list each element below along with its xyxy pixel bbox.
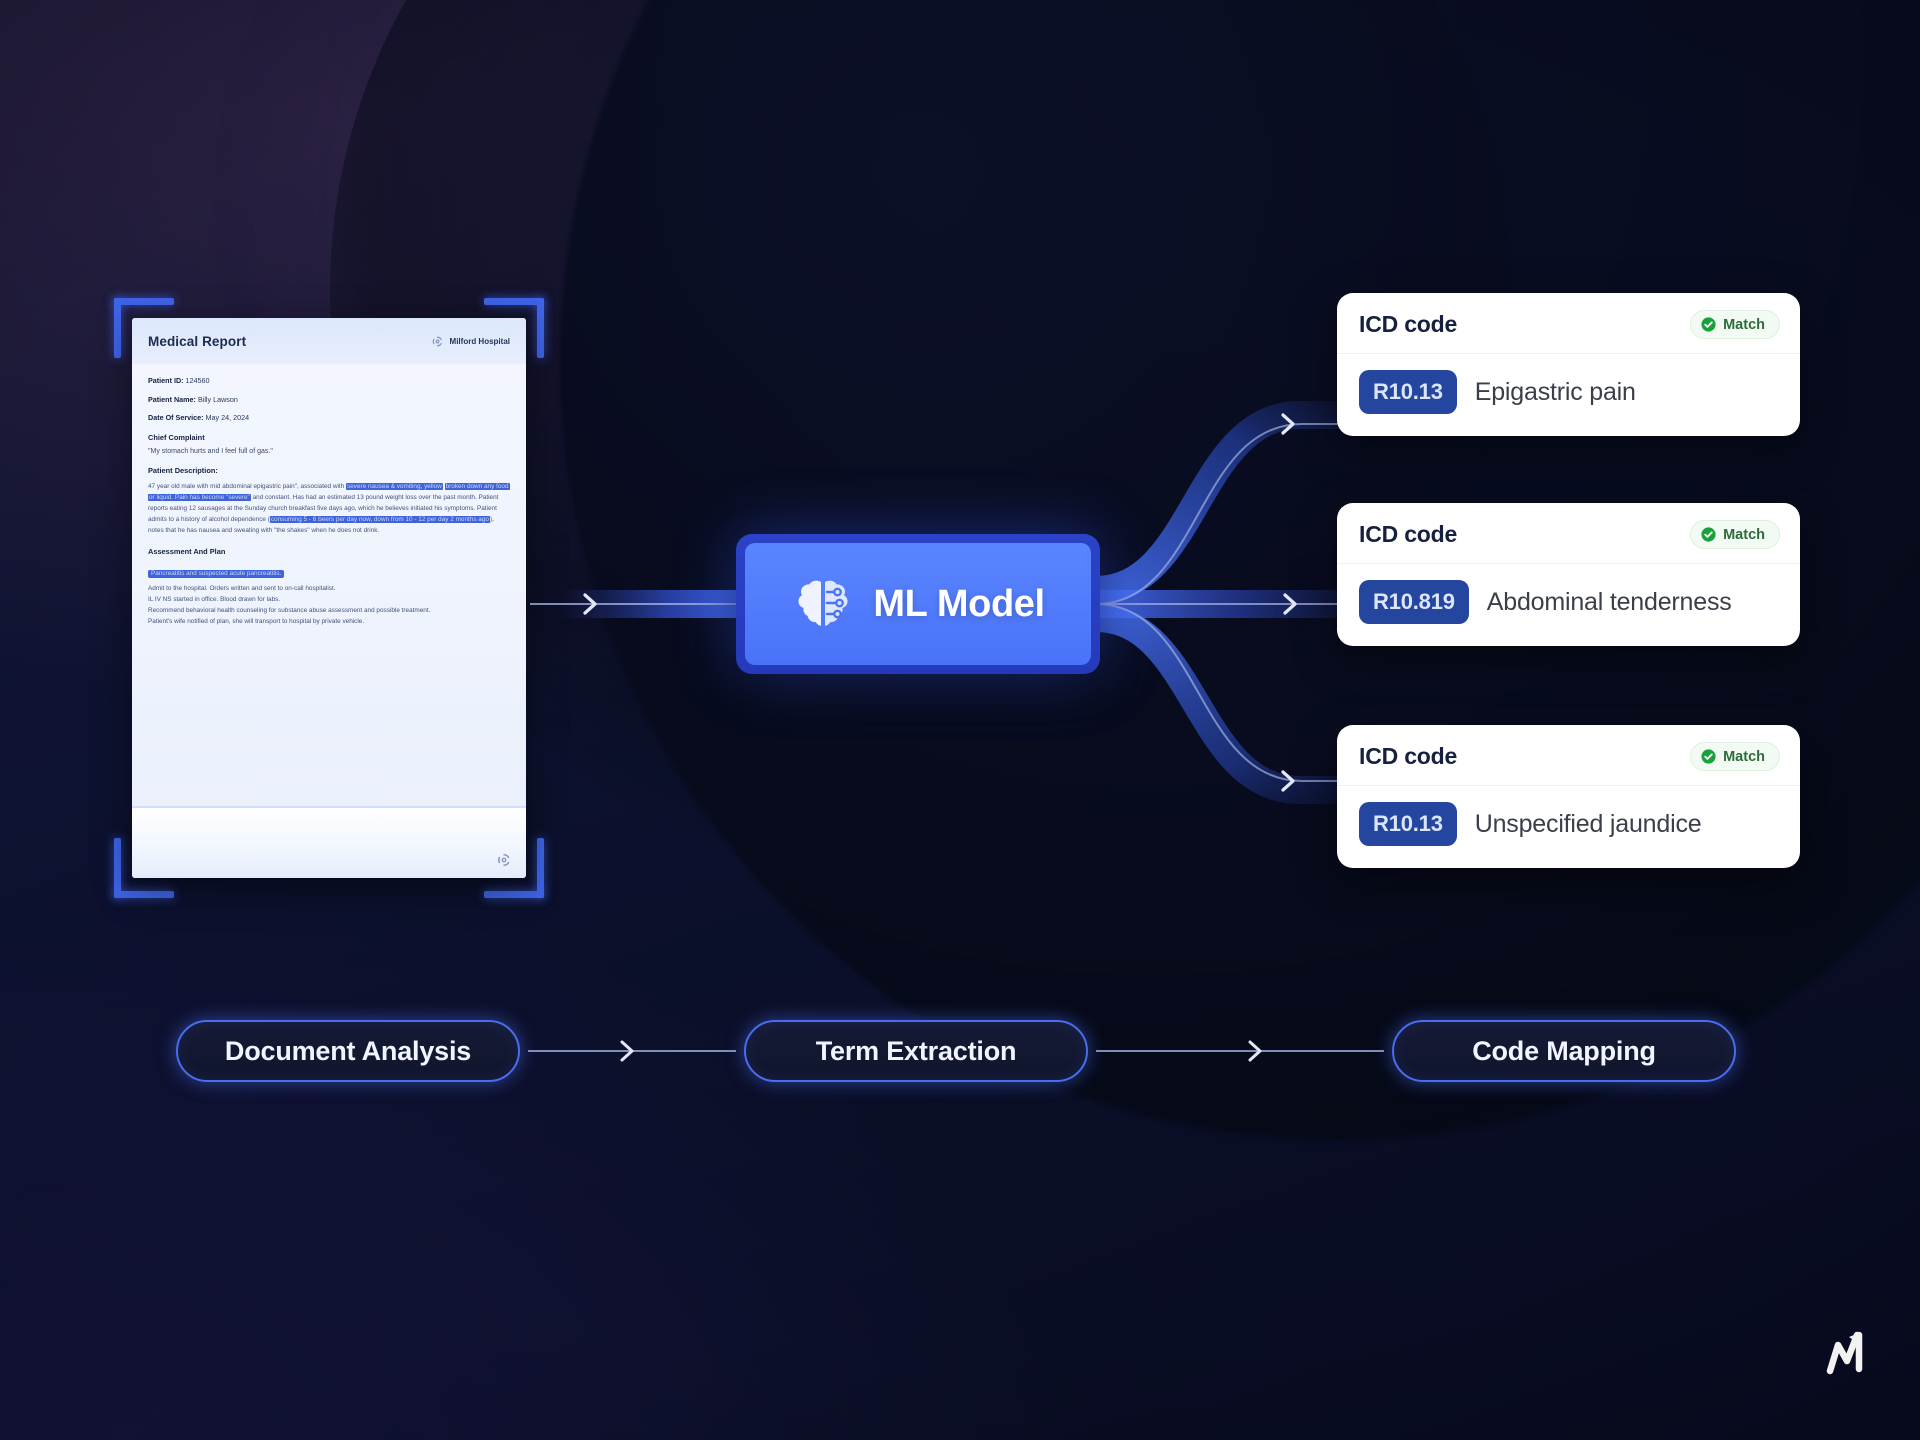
m-arrow-logo xyxy=(1826,1327,1872,1379)
field-date-of-service: Date Of Service: May 24, 2024 xyxy=(148,413,510,422)
field-value: Billy Lawson xyxy=(198,395,238,404)
medical-report-page[interactable]: Medical Report Milford Hospital xyxy=(132,318,526,878)
chief-complaint-heading: Chief Complaint xyxy=(148,433,510,442)
patient-description-text: 47 year old male with mid abdominal epig… xyxy=(148,481,510,536)
step-label: Code Mapping xyxy=(1472,1036,1656,1067)
ml-model-node[interactable]: ML Model xyxy=(736,534,1100,674)
icd-card-title: ICD code xyxy=(1359,743,1457,770)
report-footer-strip xyxy=(132,806,526,878)
icd-card-title: ICD code xyxy=(1359,521,1457,548)
hospital-brand: Milford Hospital xyxy=(431,335,510,348)
icd-code-chip[interactable]: R10.13 xyxy=(1359,802,1457,846)
icd-card-body: R10.819 Abdominal tenderness xyxy=(1337,564,1800,646)
status-badge-label: Match xyxy=(1723,527,1765,543)
assessment-line: Recommend behavioral health counseling f… xyxy=(148,605,510,616)
status-badge: Match xyxy=(1690,310,1780,339)
field-value: May 24, 2024 xyxy=(206,413,250,422)
icd-result-card[interactable]: ICD code Match R10.13 Unspecified jaundi… xyxy=(1337,725,1800,868)
assessment-line: Admit to the hospital. Orders written an… xyxy=(148,583,510,594)
icd-code-description: Epigastric pain xyxy=(1475,378,1636,407)
icd-card-header: ICD code Match xyxy=(1337,725,1800,786)
loader-circle-icon xyxy=(496,852,512,868)
status-badge: Match xyxy=(1690,742,1780,771)
check-circle-icon xyxy=(1700,748,1717,765)
icd-card-header: ICD code Match xyxy=(1337,293,1800,354)
field-patient-name: Patient Name: Billy Lawson xyxy=(148,395,510,404)
chief-complaint-text: "My stomach hurts and I feel full of gas… xyxy=(148,448,510,455)
status-badge: Match xyxy=(1690,520,1780,549)
field-label: Patient Name: xyxy=(148,395,196,404)
icd-code-description: Abdominal tenderness xyxy=(1487,588,1732,617)
check-circle-icon xyxy=(1700,526,1717,543)
status-badge-label: Match xyxy=(1723,317,1765,333)
check-circle-icon xyxy=(1700,316,1717,333)
field-label: Date Of Service: xyxy=(148,413,204,422)
icd-code-description: Unspecified jaundice xyxy=(1475,810,1702,839)
patient-description-heading: Patient Description: xyxy=(148,466,510,475)
document-scan-frame: Medical Report Milford Hospital xyxy=(114,298,544,898)
assessment-highlight-row: Pancreatitis and suspected acute pancrea… xyxy=(148,562,510,580)
icd-result-card[interactable]: ICD code Match R10.819 Abdominal tendern… xyxy=(1337,503,1800,646)
assessment-highlight: Pancreatitis and suspected acute pancrea… xyxy=(148,570,284,578)
ml-model-label: ML Model xyxy=(873,583,1044,626)
brain-circuit-icon xyxy=(791,572,855,636)
icd-card-header: ICD code Match xyxy=(1337,503,1800,564)
assessment-line: IL IV NS started in office. Blood drawn … xyxy=(148,594,510,605)
icd-code-chip[interactable]: R10.13 xyxy=(1359,370,1457,414)
ml-model-panel: ML Model xyxy=(745,543,1091,665)
field-label: Patient ID: xyxy=(148,376,184,385)
brand-watermark xyxy=(1826,1327,1872,1384)
hospital-name: Milford Hospital xyxy=(450,337,510,346)
icd-result-card[interactable]: ICD code Match R10.13 Epigastric pain xyxy=(1337,293,1800,436)
desc-highlight-1: severe nausea & vomiting, yellow xyxy=(346,483,443,490)
report-body: Patient ID: 124560 Patient Name: Billy L… xyxy=(132,364,526,627)
assessment-heading: Assessment And Plan xyxy=(148,547,510,556)
step-button-document-analysis[interactable]: Document Analysis xyxy=(176,1020,520,1082)
step-button-code-mapping[interactable]: Code Mapping xyxy=(1392,1020,1736,1082)
icd-card-body: R10.13 Epigastric pain xyxy=(1337,354,1800,436)
infographic-canvas: Medical Report Milford Hospital xyxy=(0,0,1920,1440)
step-button-term-extraction[interactable]: Term Extraction xyxy=(744,1020,1088,1082)
desc-highlight-3: consuming 5 - 6 beers per day now, down … xyxy=(270,516,490,523)
assessment-line: Patient's wife notified of plan, she wil… xyxy=(148,616,510,627)
desc-lead: 47 year old male with mid abdominal epig… xyxy=(148,483,346,490)
report-title: Medical Report xyxy=(148,334,246,349)
icd-card-body: R10.13 Unspecified jaundice xyxy=(1337,786,1800,868)
report-header: Medical Report Milford Hospital xyxy=(132,318,526,364)
recycle-circle-icon xyxy=(431,335,444,348)
step-label: Document Analysis xyxy=(225,1036,471,1067)
status-badge-label: Match xyxy=(1723,749,1765,765)
icd-card-title: ICD code xyxy=(1359,311,1457,338)
step-label: Term Extraction xyxy=(816,1036,1017,1067)
field-value: 124560 xyxy=(186,376,210,385)
icd-code-chip[interactable]: R10.819 xyxy=(1359,580,1469,624)
field-patient-id: Patient ID: 124560 xyxy=(148,376,510,385)
